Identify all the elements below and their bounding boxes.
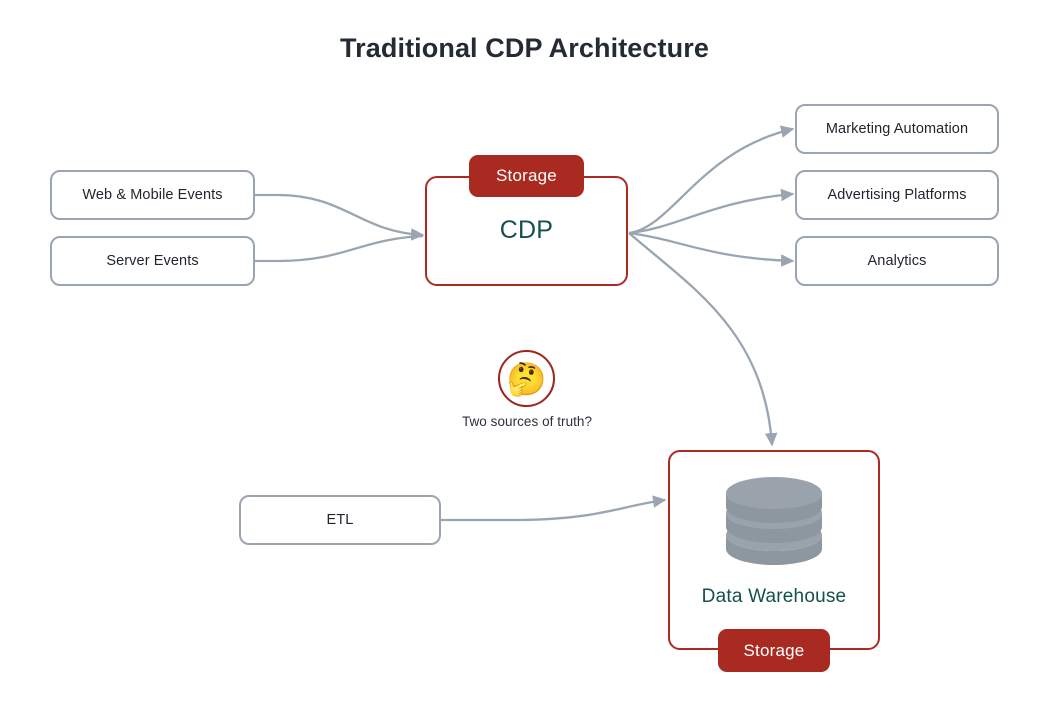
diagram-canvas: Traditional CDP Architecture Web & Mobil… xyxy=(0,0,1049,709)
wire-etl-to-data-warehouse xyxy=(441,500,665,520)
destination-node-marketing-automation[interactable]: Marketing Automation xyxy=(795,104,999,154)
annotation-caption: Two sources of truth? xyxy=(427,414,627,429)
data-warehouse-label: Data Warehouse xyxy=(668,586,880,608)
wire-cdp-to-analytics xyxy=(629,233,793,261)
etl-node[interactable]: ETL xyxy=(239,495,441,545)
destination-label: Advertising Platforms xyxy=(827,187,966,203)
source-label: Server Events xyxy=(106,253,198,269)
wire-web-mobile-to-cdp xyxy=(255,195,423,235)
data-warehouse-storage-badge-label: Storage xyxy=(744,641,805,661)
database-cylinder-icon xyxy=(722,477,826,572)
destination-node-advertising-platforms[interactable]: Advertising Platforms xyxy=(795,170,999,220)
thinking-face-icon: 🤔 xyxy=(498,350,555,407)
page-title: Traditional CDP Architecture xyxy=(0,33,1049,64)
destination-node-analytics[interactable]: Analytics xyxy=(795,236,999,286)
wire-cdp-to-marketing-automation xyxy=(629,129,793,233)
cdp-storage-badge-label: Storage xyxy=(496,166,557,186)
cdp-storage-badge: Storage xyxy=(469,155,584,197)
destination-label: Analytics xyxy=(868,253,927,269)
wire-cdp-to-data-warehouse xyxy=(629,233,772,445)
thinking-face-emoji: 🤔 xyxy=(507,363,547,395)
source-node-server-events[interactable]: Server Events xyxy=(50,236,255,286)
destination-label: Marketing Automation xyxy=(826,121,968,137)
source-label: Web & Mobile Events xyxy=(82,187,222,203)
wire-server-to-cdp xyxy=(255,236,423,261)
wire-cdp-to-advertising-platforms xyxy=(629,194,793,233)
data-warehouse-storage-badge: Storage xyxy=(718,629,830,672)
source-node-web-mobile-events[interactable]: Web & Mobile Events xyxy=(50,170,255,220)
cdp-label: CDP xyxy=(425,216,628,245)
etl-label: ETL xyxy=(327,512,354,528)
